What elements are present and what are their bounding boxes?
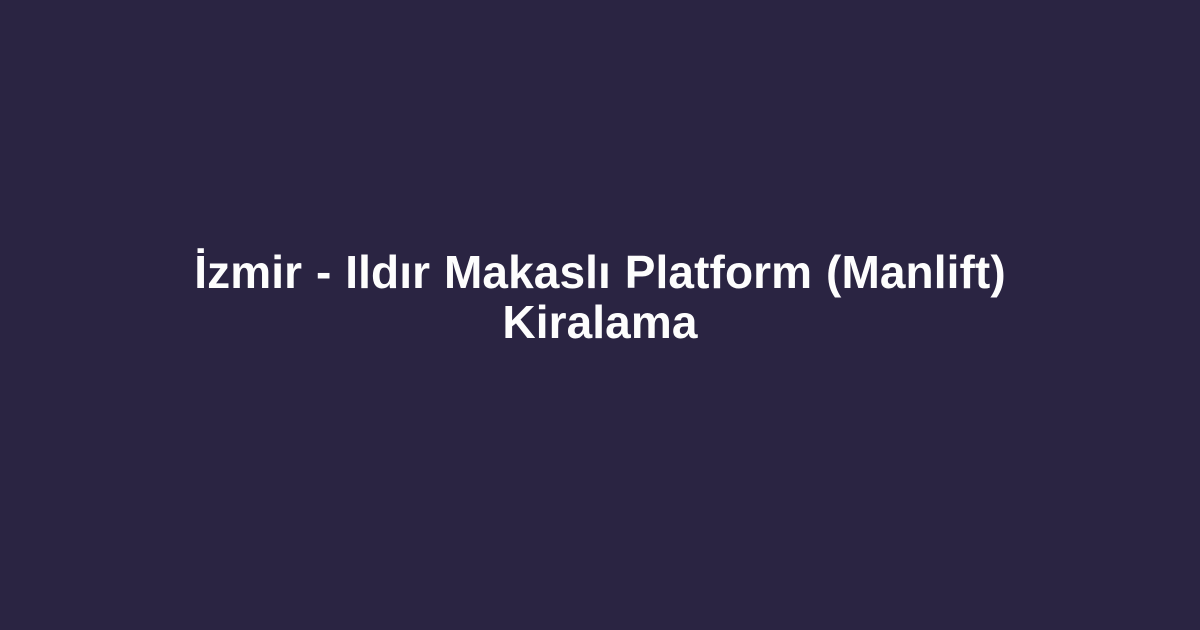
page-title: İzmir - Ildır Makaslı Platform (Manlift)… [130,247,1070,347]
og-image-card: İzmir - Ildır Makaslı Platform (Manlift)… [0,0,1200,630]
title-block: İzmir - Ildır Makaslı Platform (Manlift)… [120,247,1080,347]
